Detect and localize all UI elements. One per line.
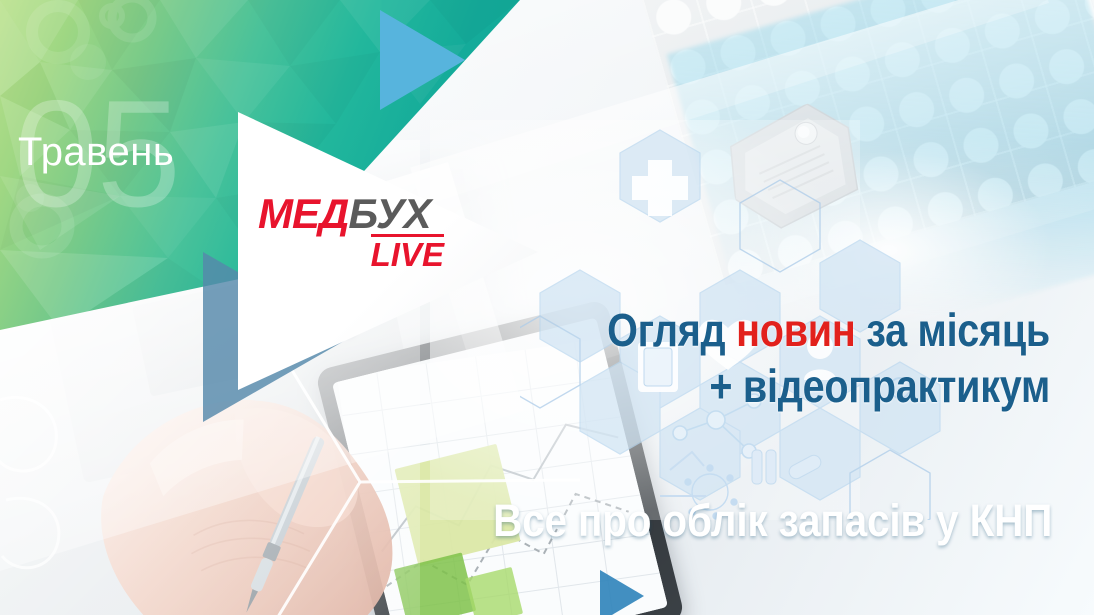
brand-logo: МЕДБУХ LIVE xyxy=(258,192,478,284)
logo-med-text: МЕД xyxy=(258,190,348,237)
play-triangle-blue-icon xyxy=(380,10,465,110)
promo-banner-image: 05 Травень МЕДБУХ LIVE Огляд новин за мі… xyxy=(0,0,1094,615)
headline-line-1-part-a: Огляд xyxy=(607,304,736,356)
month-name-label: Травень xyxy=(18,132,174,172)
logo-buh-text: БУХ xyxy=(348,190,430,237)
headline-line-1-part-b: за місяць xyxy=(855,304,1050,356)
play-triangle-small-icon xyxy=(600,570,644,615)
logo-live-text: LIVE xyxy=(371,234,444,272)
logo-live-row: LIVE xyxy=(258,234,444,272)
headline-line-1-accent: новин xyxy=(736,304,855,356)
logo-wordmark: МЕДБУХ xyxy=(258,192,478,236)
headline-block: Огляд новин за місяць + відеопрактикум xyxy=(410,302,1050,414)
headline-line-1: Огляд новин за місяць xyxy=(500,302,1050,358)
headline-line-2: + відеопрактикум xyxy=(500,358,1050,414)
